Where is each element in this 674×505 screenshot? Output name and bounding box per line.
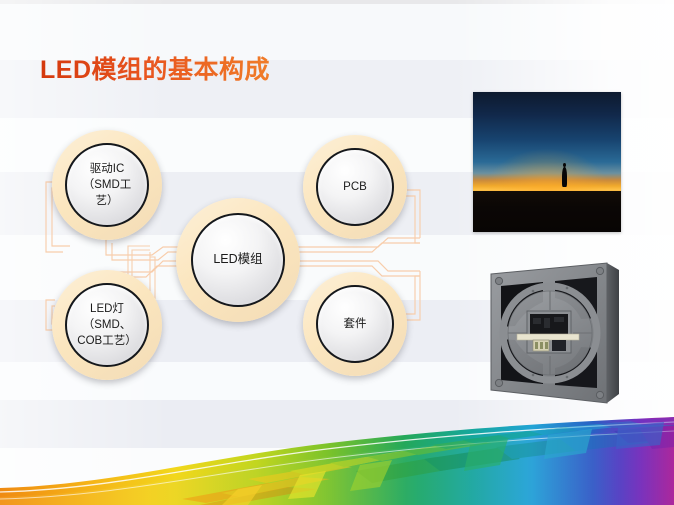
node-label-driver-ic: 驱动IC （SMD工 艺） — [52, 130, 162, 240]
diagram-node-kit[interactable]: 套件 — [303, 272, 407, 376]
node-label-led-lamp: LED灯 （SMD、 COB工艺） — [52, 270, 162, 380]
rainbow-swoosh-decoration — [0, 395, 674, 505]
led-panel-rear-photo — [489, 258, 641, 408]
diagram-node-pcb[interactable]: PCB — [303, 135, 407, 239]
node-label-kit: 套件 — [303, 272, 407, 376]
person-silhouette — [562, 167, 567, 187]
diagram-node-driver-ic[interactable]: 驱动IC （SMD工 艺） — [52, 130, 162, 240]
diagram-node-led-lamp[interactable]: LED灯 （SMD、 COB工艺） — [52, 270, 162, 380]
sunset-silhouette-photo — [473, 92, 621, 232]
node-label-pcb: PCB — [303, 135, 407, 239]
node-label-led-module: LED模组 — [176, 198, 300, 322]
slide-canvas: LED模组的基本构成 — [0, 0, 674, 505]
horizon-band — [473, 191, 621, 232]
diagram-node-led-module[interactable]: LED模组 — [176, 198, 300, 322]
